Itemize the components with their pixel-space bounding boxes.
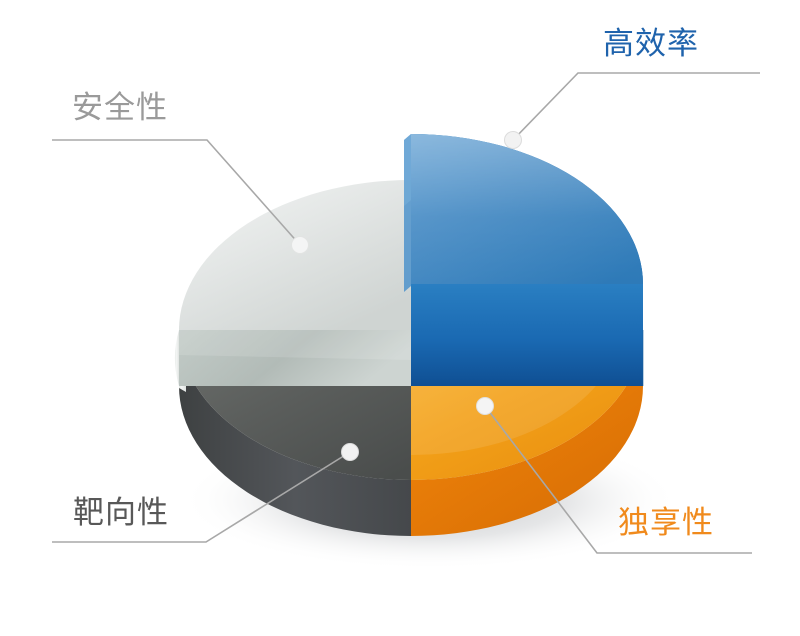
callout-efficiency-line xyxy=(513,73,760,140)
label-exclusive: 独享性 xyxy=(618,507,714,538)
slice-efficiency-cut-front xyxy=(411,284,643,386)
slice-security-cut-face-shade xyxy=(179,330,411,360)
slice-security-wall xyxy=(175,330,179,386)
label-efficiency: 高效率 xyxy=(603,28,699,59)
pie-chart-figure: 高效率 安全性 靶向性 独享性 xyxy=(0,0,800,636)
callout-security-dot xyxy=(292,237,309,254)
slice-efficiency-top-sheen xyxy=(411,134,643,284)
slice-security-top xyxy=(179,180,411,330)
label-targeting: 靶向性 xyxy=(73,497,169,528)
slice-efficiency-group xyxy=(404,134,643,386)
callout-efficiency-dot xyxy=(505,132,522,149)
slice-efficiency-bevel-hi xyxy=(404,134,411,206)
callout-targeting-dot xyxy=(342,444,359,461)
callout-efficiency xyxy=(505,73,761,149)
label-security: 安全性 xyxy=(72,92,168,123)
callout-exclusive-dot xyxy=(477,398,494,415)
